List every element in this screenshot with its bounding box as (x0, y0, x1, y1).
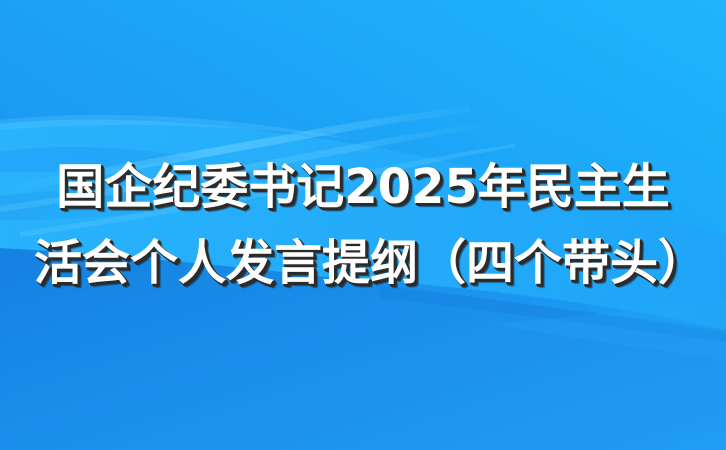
banner-title-container: 国企纪委书记2025年民主生活会个人发言提纲（四个带头） (0, 0, 726, 450)
banner-card: 国企纪委书记2025年民主生活会个人发言提纲（四个带头） (0, 0, 726, 450)
banner-title: 国企纪委书记2025年民主生活会个人发言提纲（四个带头） (34, 149, 692, 301)
